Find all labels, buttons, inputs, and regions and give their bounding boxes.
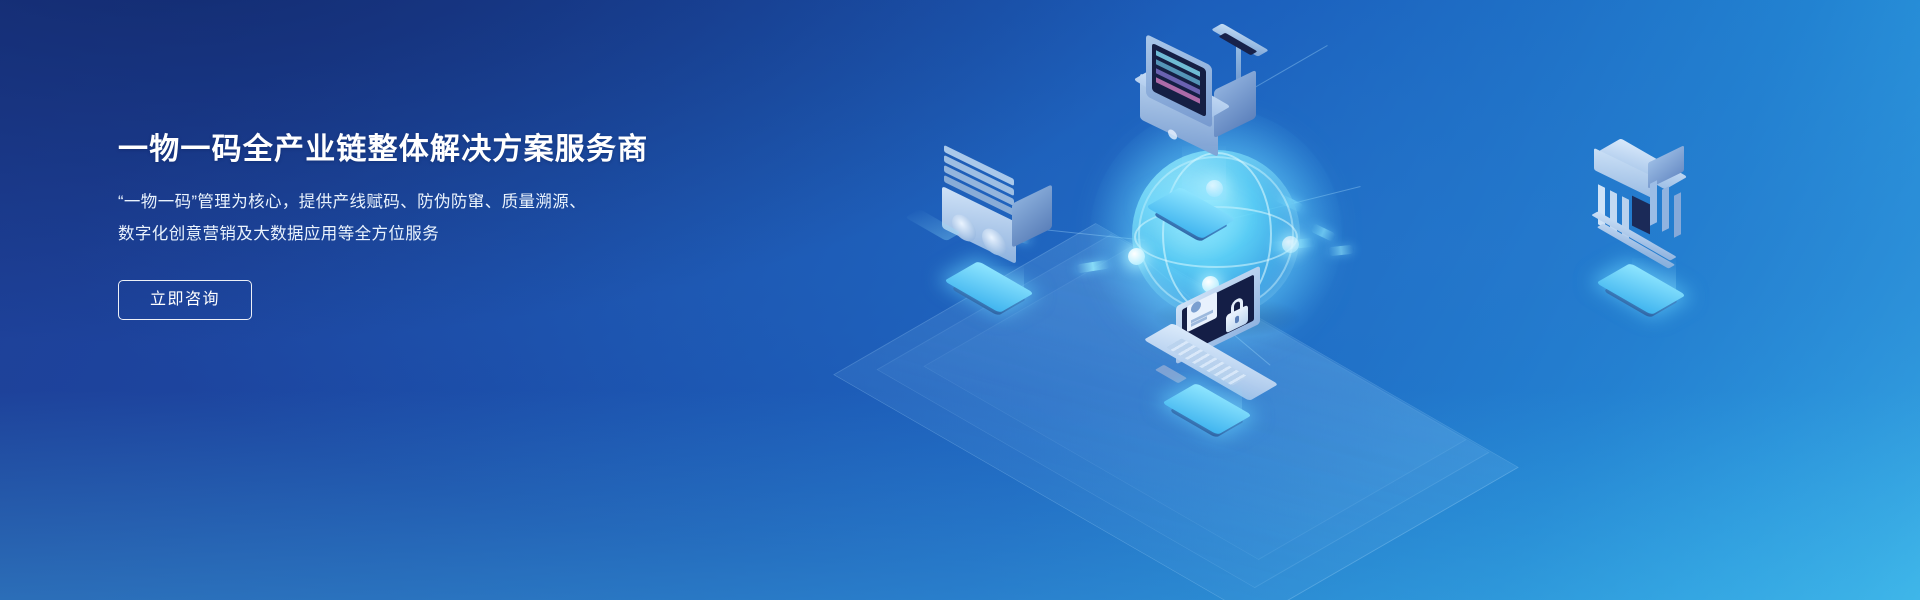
server-pedestal (958, 256, 1020, 318)
pos-pedestal (1160, 182, 1222, 244)
bank-building-icon (1580, 138, 1720, 268)
pos-terminal-icon (1132, 30, 1282, 160)
bank-pedestal (1610, 258, 1672, 320)
consult-now-button[interactable]: 立即咨询 (118, 280, 252, 320)
laptop-pedestal (1176, 378, 1238, 440)
hero-subtitle-line-1: “一物一码”管理为核心，提供产线赋码、防伪防窜、质量溯源、 (118, 186, 758, 218)
orb-node-right (1282, 236, 1299, 253)
isometric-illustration (880, 0, 1920, 600)
hero-banner: 一物一码全产业链整体解决方案服务商 “一物一码”管理为核心，提供产线赋码、防伪防… (0, 0, 1920, 600)
page-title: 一物一码全产业链整体解决方案服务商 (118, 128, 758, 172)
orb-node-left (1128, 248, 1145, 265)
hero-subtitle-line-2: 数字化创意营销及大数据应用等全方位服务 (118, 218, 758, 250)
hero-copy-block: 一物一码全产业链整体解决方案服务商 “一物一码”管理为核心，提供产线赋码、防伪防… (118, 128, 758, 320)
hero-subtitle: “一物一码”管理为核心，提供产线赋码、防伪防窜、质量溯源、 数字化创意营销及大数… (118, 172, 758, 250)
cta-container: 立即咨询 (118, 250, 758, 320)
